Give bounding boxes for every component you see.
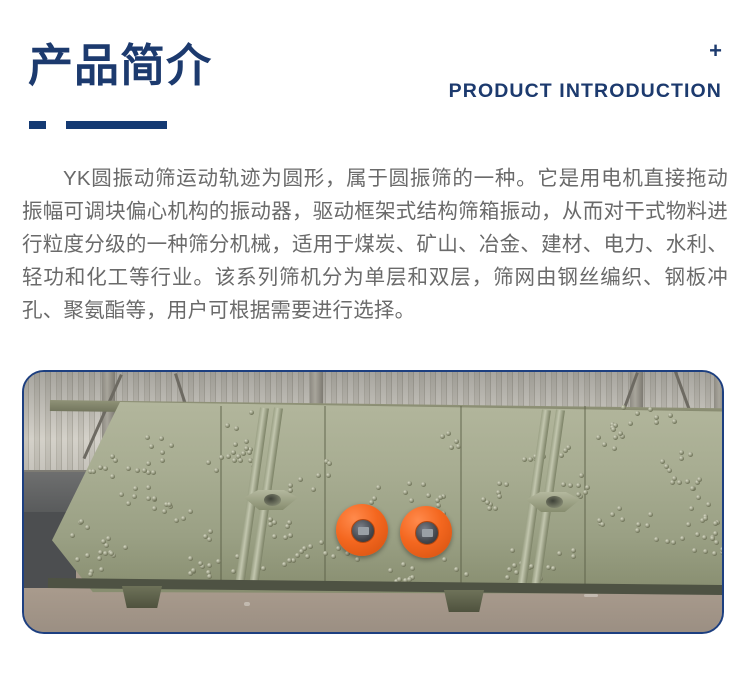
underline-bar xyxy=(66,121,167,129)
rivet xyxy=(287,558,292,563)
page-title: 产品简介 xyxy=(28,40,212,92)
rivet xyxy=(635,411,640,416)
rivet xyxy=(710,536,715,541)
rivet xyxy=(287,520,292,525)
rivet xyxy=(106,536,111,541)
product-photo-scene xyxy=(24,372,722,632)
rivet xyxy=(660,459,665,464)
section-header: 产品简介 + PRODUCT INTRODUCTION xyxy=(0,0,750,150)
rivet xyxy=(703,516,708,521)
rivet xyxy=(654,537,659,542)
product-photo xyxy=(22,370,724,634)
rivet xyxy=(621,405,626,410)
rivet xyxy=(446,431,451,436)
rivet xyxy=(160,450,165,455)
panel-seam xyxy=(324,406,326,588)
rivet xyxy=(510,548,515,553)
rivet xyxy=(316,473,321,478)
rivet xyxy=(216,559,221,564)
title-underline xyxy=(29,121,229,129)
rivet xyxy=(720,547,722,552)
rivet xyxy=(104,543,109,548)
rivet xyxy=(557,551,562,556)
page-subtitle: PRODUCT INTRODUCTION xyxy=(449,80,722,103)
rivet xyxy=(497,494,502,499)
rivet xyxy=(697,477,702,482)
rivet xyxy=(85,553,90,558)
rivet xyxy=(113,458,118,463)
stiffener-pipe xyxy=(264,494,281,506)
stiffener-pipe xyxy=(546,496,563,508)
rivet xyxy=(272,534,277,539)
rivet xyxy=(169,443,174,448)
rivet xyxy=(561,482,566,487)
rivet xyxy=(323,551,328,556)
rivet xyxy=(97,556,102,561)
rivet xyxy=(672,419,677,424)
rivet xyxy=(690,486,695,491)
rivet xyxy=(410,566,415,571)
support-foot xyxy=(122,586,162,608)
rivet xyxy=(283,535,288,540)
rivet xyxy=(671,540,676,545)
rivet xyxy=(696,495,701,500)
rivet xyxy=(504,482,509,487)
rivet xyxy=(407,577,412,582)
rivet xyxy=(234,426,239,431)
rivet xyxy=(336,546,341,551)
rivet xyxy=(703,549,708,554)
rivet xyxy=(372,496,377,501)
rivet xyxy=(645,523,650,528)
rivet xyxy=(181,516,186,521)
underline-dash xyxy=(29,121,46,129)
rivet xyxy=(75,557,80,562)
rivet xyxy=(522,457,527,462)
rivet xyxy=(585,485,590,490)
rivet xyxy=(152,506,157,511)
rivet xyxy=(299,549,304,554)
rivet xyxy=(160,458,165,463)
panel-seam xyxy=(460,406,462,590)
rivet xyxy=(188,509,193,514)
rivet xyxy=(159,436,164,441)
rivet xyxy=(602,442,607,447)
rivet xyxy=(568,483,573,488)
panel-seam xyxy=(220,406,222,584)
rivet xyxy=(132,494,137,499)
rivet xyxy=(654,415,659,420)
rivet xyxy=(436,503,441,508)
rivet xyxy=(388,568,393,573)
rivet xyxy=(571,548,576,553)
rivet xyxy=(654,420,659,425)
rivet xyxy=(174,518,179,523)
plus-icon: + xyxy=(709,40,722,62)
rivet xyxy=(110,474,115,479)
rivet xyxy=(442,557,447,562)
panel-seam xyxy=(584,406,586,592)
vibrator-motor xyxy=(400,506,452,558)
rivet xyxy=(583,490,588,495)
rivet xyxy=(579,473,584,478)
rivet xyxy=(665,539,670,544)
rivet xyxy=(507,567,512,572)
product-introduction-paragraph: YK圆振动筛运动轨迹为圆形，属于圆振筛的一种。它是用电机直接拖动振幅可调块偏心机… xyxy=(22,162,728,327)
rivet xyxy=(493,506,498,511)
rivet xyxy=(680,536,685,541)
rivet xyxy=(85,525,90,530)
rivet xyxy=(487,506,492,511)
rivet xyxy=(576,483,581,488)
floor-debris xyxy=(244,602,250,606)
floor-debris xyxy=(584,594,598,597)
rivet xyxy=(207,537,212,542)
rivet xyxy=(686,522,691,527)
rivet xyxy=(689,506,694,511)
rivet xyxy=(481,497,486,502)
motor-hub xyxy=(415,521,439,545)
rivet xyxy=(247,450,252,455)
rivet xyxy=(91,469,96,474)
rivet xyxy=(407,481,412,486)
rivet xyxy=(628,421,633,426)
vibrator-motor xyxy=(336,504,388,556)
rivet xyxy=(505,575,510,580)
rivet xyxy=(712,551,717,556)
rivet xyxy=(298,477,303,482)
rivet xyxy=(620,517,625,522)
rivet xyxy=(226,454,231,459)
rivet xyxy=(426,493,431,498)
support-foot xyxy=(444,590,484,612)
rivet xyxy=(497,481,502,486)
rivet xyxy=(648,512,653,517)
rivet xyxy=(225,423,230,428)
rivet xyxy=(151,470,156,475)
rivet xyxy=(109,551,114,556)
rivet xyxy=(702,535,707,540)
rivet xyxy=(355,557,360,562)
rivet xyxy=(612,446,617,451)
rivet xyxy=(438,495,443,500)
rivet xyxy=(232,458,237,463)
rivet xyxy=(613,435,618,440)
rivet xyxy=(207,574,212,579)
rivet xyxy=(440,434,445,439)
rivet xyxy=(326,473,331,478)
motor-hub xyxy=(351,519,375,543)
rivet xyxy=(244,439,249,444)
rivet xyxy=(692,548,697,553)
rivet xyxy=(679,450,684,455)
rivet xyxy=(421,482,426,487)
rivet xyxy=(261,566,266,571)
rivet xyxy=(672,476,677,481)
rivet xyxy=(233,442,238,447)
rivet xyxy=(191,568,196,573)
rivet xyxy=(563,448,568,453)
rivet xyxy=(206,460,211,465)
